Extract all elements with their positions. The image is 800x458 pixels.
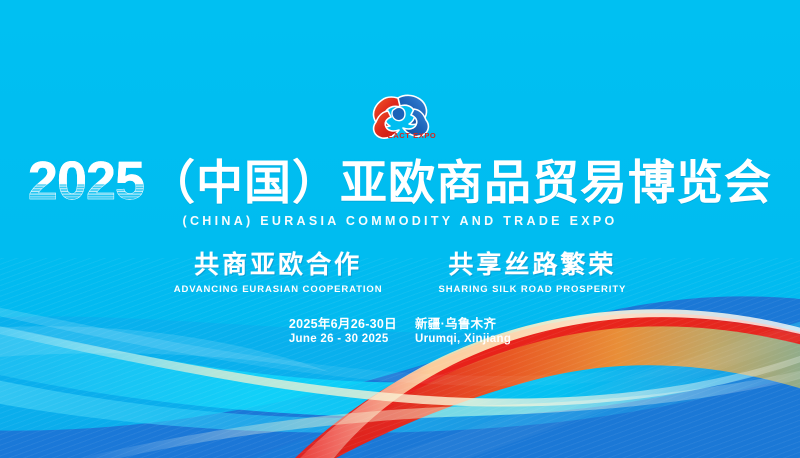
event-venue: 新疆·乌鲁木齐 Urumqi, Xinjiang [415, 316, 511, 348]
event-date: 2025年6月26-30日 June 26 - 30 2025 [289, 316, 397, 348]
slogan-2: 共享丝路繁荣 SHARING SILK ROAD PROSPERITY [438, 252, 626, 295]
banner-content: EACT EXPO 2025 （中国）亚欧商品贸易博览会 (CHINA) EUR… [0, 0, 800, 458]
main-title: 2025 （中国）亚欧商品贸易博览会 [28, 154, 772, 208]
event-date-chinese: 2025年6月26-30日 [289, 316, 397, 333]
expo-logo-mark: EACT EXPO [352, 82, 448, 142]
slogan-1: 共商亚欧合作 ADVANCING EURASIAN COOPERATION [174, 252, 383, 295]
slogan-2-english: SHARING SILK ROAD PROSPERITY [438, 284, 626, 295]
slogan-1-english: ADVANCING EURASIAN COOPERATION [174, 284, 383, 295]
logo-wordmark: EACT EXPO [388, 131, 437, 140]
title-chinese: （中国）亚欧商品贸易博览会 [148, 159, 772, 206]
slogan-group: 共商亚欧合作 ADVANCING EURASIAN COOPERATION 共享… [174, 252, 627, 295]
slogan-1-chinese: 共商亚欧合作 [174, 252, 383, 280]
expo-banner: EACT EXPO 2025 （中国）亚欧商品贸易博览会 (CHINA) EUR… [0, 0, 800, 458]
event-venue-english: Urumqi, Xinjiang [415, 332, 511, 348]
event-meta: 2025年6月26-30日 June 26 - 30 2025 新疆·乌鲁木齐 … [289, 316, 511, 348]
title-year: 2025 [28, 154, 148, 208]
expo-logo: EACT EXPO [352, 82, 448, 142]
title-english: (CHINA) EURASIA COMMODITY AND TRADE EXPO [182, 214, 617, 228]
event-venue-chinese: 新疆·乌鲁木齐 [415, 316, 511, 333]
event-date-english: June 26 - 30 2025 [289, 332, 397, 348]
slogan-2-chinese: 共享丝路繁荣 [438, 252, 626, 280]
